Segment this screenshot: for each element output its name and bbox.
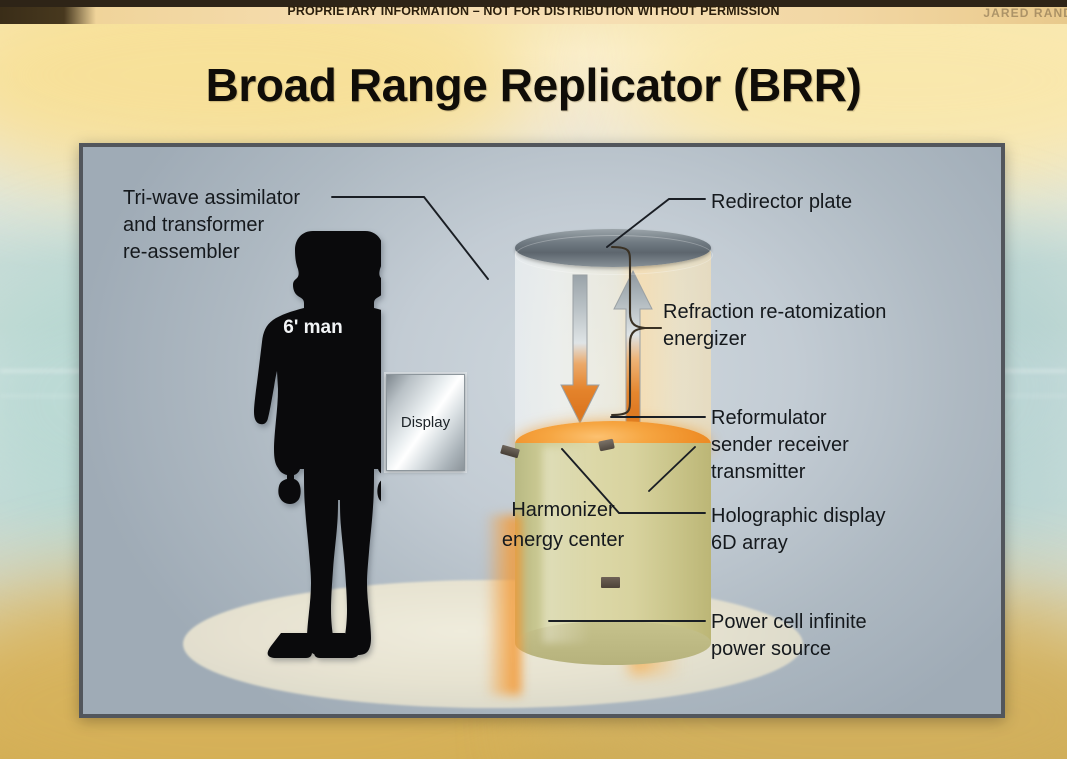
diagram-panel: 6' man bbox=[79, 143, 1005, 718]
proprietary-banner: PROPRIETARY INFORMATION – NOT FOR DISTRI… bbox=[0, 0, 1067, 24]
page-title: Broad Range Replicator (BRR) bbox=[0, 58, 1067, 112]
display-panel[interactable]: Display bbox=[386, 374, 465, 471]
display-panel-label: Display bbox=[401, 414, 450, 431]
callout-reformulator: Reformulator sender receiver transmitter bbox=[711, 405, 849, 486]
slide-screenshot: PROPRIETARY INFORMATION – NOT FOR DISTRI… bbox=[0, 0, 1067, 759]
callout-power-cell: Power cell infinite power source bbox=[711, 609, 867, 663]
callout-tri-wave-assimilator: Tri-wave assimilator and transformer re-… bbox=[123, 185, 300, 266]
power-cell-chip bbox=[601, 577, 620, 588]
downward-energy-arrow bbox=[558, 273, 602, 425]
proprietary-notice-text: PROPRIETARY INFORMATION – NOT FOR DISTRI… bbox=[0, 4, 1067, 18]
label-harmonizer-energy-center: Harmonizer energy center bbox=[463, 495, 663, 555]
redirector-plate-rim bbox=[515, 235, 713, 275]
scale-figure-silhouette: 6' man bbox=[245, 229, 381, 659]
upward-energy-arrow bbox=[611, 269, 655, 425]
callout-redirector-plate: Redirector plate bbox=[711, 189, 852, 216]
callout-holographic-display: Holographic display 6D array bbox=[711, 503, 886, 557]
presenter-watermark: JARED RAND bbox=[983, 6, 1067, 20]
callout-refraction-energizer: Refraction re-atomization energizer bbox=[663, 299, 886, 353]
